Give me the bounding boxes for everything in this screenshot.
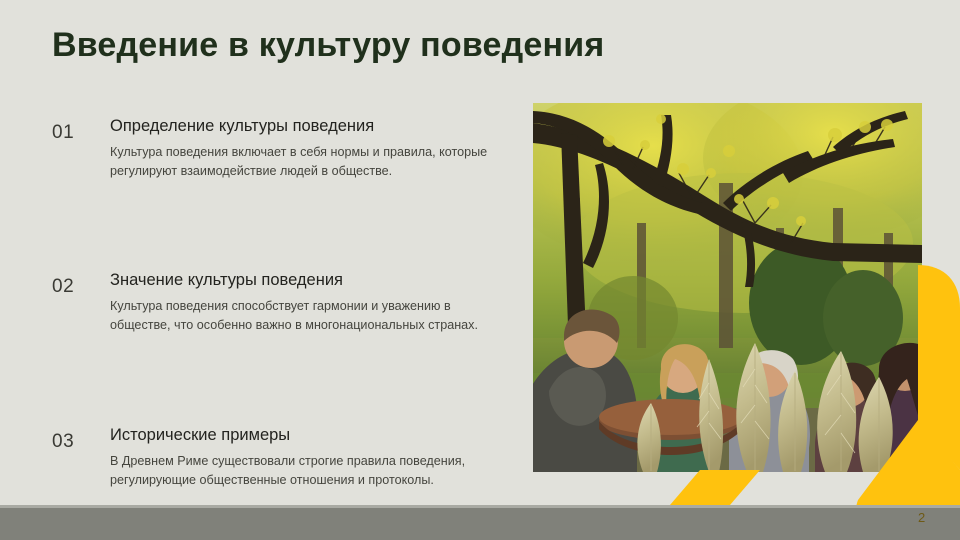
list-item-heading: Определение культуры поведения [110, 116, 492, 137]
list-item-heading: Исторические примеры [110, 425, 492, 446]
list-item-description: Культура поведения включает в себя нормы… [110, 143, 492, 181]
list-item: 01 Определение культуры поведения Культу… [52, 116, 492, 180]
slide-photo [533, 103, 922, 472]
list-item-body: Исторические примеры В Древнем Риме суще… [110, 425, 492, 489]
park-scene-illustration [533, 103, 922, 472]
list-item-body: Определение культуры поведения Культура … [110, 116, 492, 180]
page-number: 2 [918, 510, 925, 525]
footer-bar [0, 505, 960, 540]
list-item: 02 Значение культуры поведения Культура … [52, 270, 492, 334]
list-item-number: 03 [52, 431, 96, 453]
list-item-heading: Значение культуры поведения [110, 270, 492, 291]
page-title: Введение в культуру поведения [52, 26, 604, 65]
list-item: 03 Исторические примеры В Древнем Риме с… [52, 425, 492, 489]
slide-canvas: Введение в культуру поведения 01 Определ… [0, 0, 960, 540]
list-item-number: 02 [52, 276, 96, 298]
list-item-number: 01 [52, 122, 96, 144]
list-item-description: Культура поведения способствует гармонии… [110, 297, 492, 335]
list-item-description: В Древнем Риме существовали строгие прав… [110, 452, 492, 490]
list-item-body: Значение культуры поведения Культура пов… [110, 270, 492, 334]
